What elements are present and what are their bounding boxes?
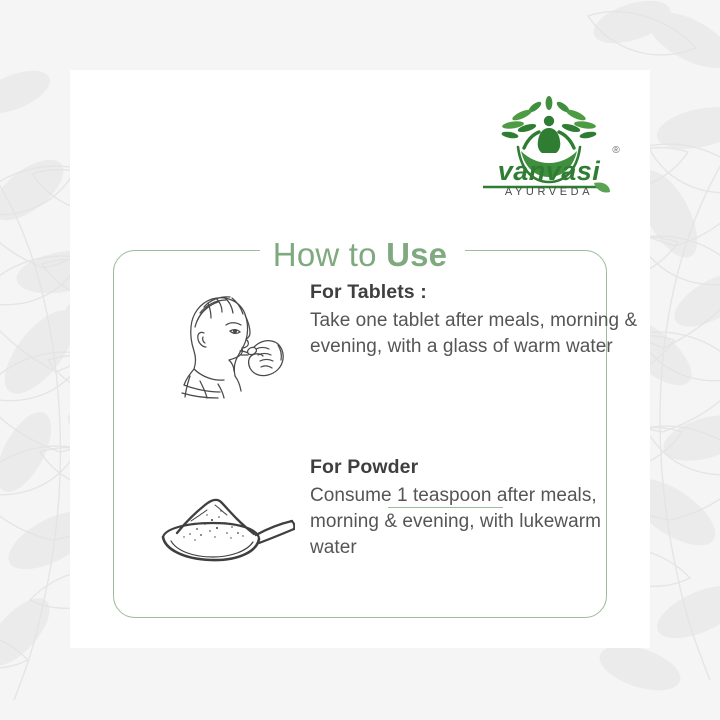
powder-heading: For Powder bbox=[310, 455, 650, 481]
registered-trademark-symbol: ® bbox=[612, 145, 620, 156]
page-title: How to Use bbox=[273, 238, 447, 271]
tablets-copy: For Tablets : Take one tablet after meal… bbox=[300, 280, 650, 360]
page-title-row: How to Use bbox=[70, 238, 650, 271]
poster-canvas: vanvasi AYURVEDA ® How to Use bbox=[0, 0, 720, 720]
brand-tagline: AYURVEDA bbox=[505, 186, 593, 195]
page-title-regular: How to bbox=[273, 236, 386, 273]
spoon-with-powder-icon bbox=[150, 455, 300, 587]
instruction-row-tablets: For Tablets : Take one tablet after meal… bbox=[150, 280, 650, 400]
powder-copy: For Powder Consume 1 teaspoon after meal… bbox=[300, 455, 650, 561]
instruction-row-powder: For Powder Consume 1 teaspoon after meal… bbox=[150, 455, 650, 587]
tablets-heading: For Tablets : bbox=[310, 280, 650, 306]
page-title-bold: Use bbox=[386, 236, 447, 273]
brand-name: vanvasi bbox=[498, 156, 601, 186]
brand-logo: vanvasi AYURVEDA ® bbox=[477, 95, 622, 195]
powder-body: Consume 1 teaspoon after meals, morning … bbox=[310, 483, 650, 562]
person-taking-tablet-icon bbox=[150, 280, 300, 400]
tablets-body: Take one tablet after meals, morning & e… bbox=[310, 308, 650, 360]
content-panel: vanvasi AYURVEDA ® How to Use bbox=[70, 70, 650, 648]
